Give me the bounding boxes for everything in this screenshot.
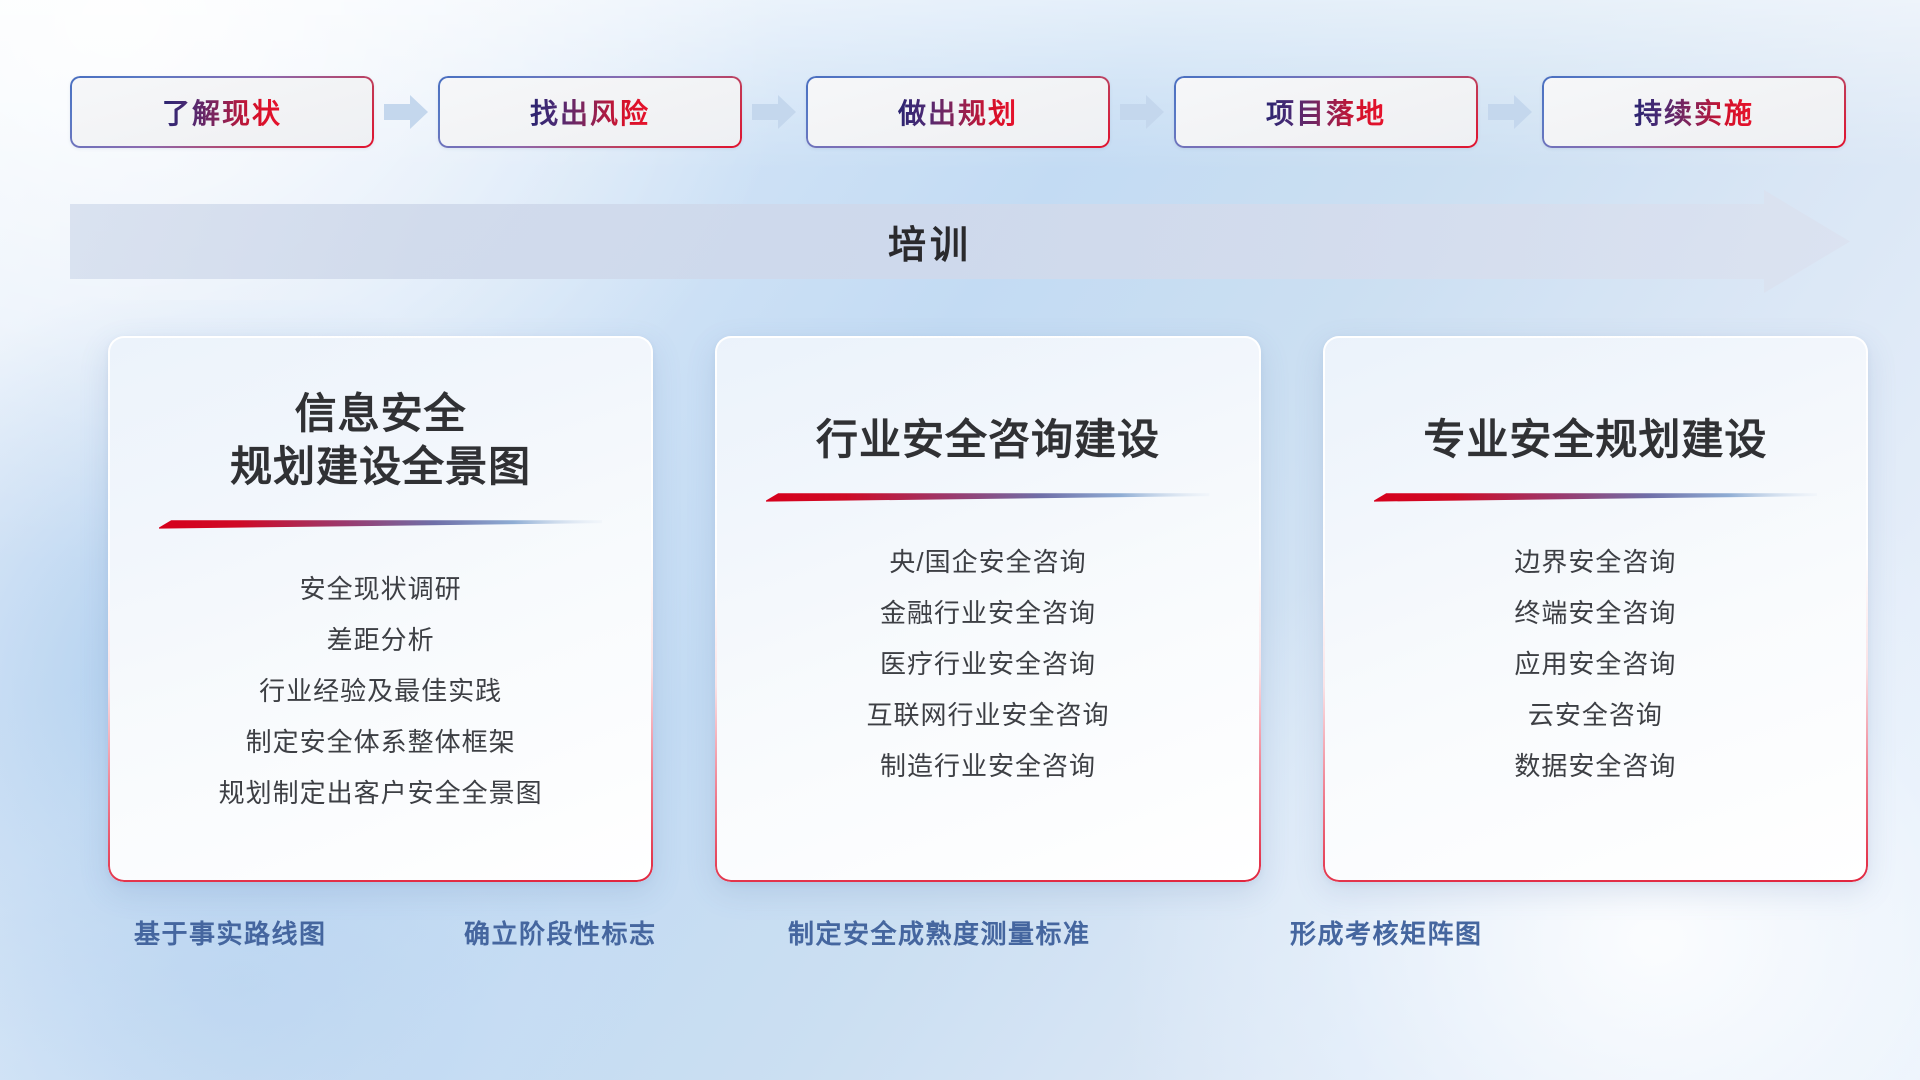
- chevron-right-arrow-icon: [1110, 76, 1174, 148]
- card-item-list: 央/国企安全咨询 金融行业安全咨询 医疗行业安全咨询 互联网行业安全咨询 制造行…: [745, 537, 1230, 792]
- chevron-right-arrow-icon: [374, 76, 438, 148]
- caption-milestones: 确立阶段性标志: [464, 905, 657, 959]
- list-item: 应用安全咨询: [1353, 639, 1838, 690]
- chevron-right-arrow-icon: [1478, 76, 1542, 148]
- step-pill-2[interactable]: 找出风险: [438, 76, 742, 148]
- step-pill-1[interactable]: 了解现状: [70, 76, 374, 148]
- chevron-right-arrow-icon: [742, 76, 806, 148]
- card-row: 信息安全 规划建设全景图 安全现状调研 差: [108, 336, 1868, 882]
- caption-roadmap: 基于事实路线图: [134, 905, 327, 959]
- card-item-list: 边界安全咨询 终端安全咨询 应用安全咨询 云安全咨询 数据安全咨询: [1353, 537, 1838, 792]
- card-title-line-1: 专业安全规划建设: [1423, 414, 1767, 467]
- card-title: 专业安全规划建设: [1423, 396, 1767, 467]
- process-step-row: 了解现状 找出风险 做出规划 项目落地 持续实施: [70, 76, 1850, 148]
- list-item: 差距分析: [138, 615, 623, 666]
- list-item: 数据安全咨询: [1353, 741, 1838, 792]
- card-divider-icon: [766, 491, 1209, 503]
- step-pill-3[interactable]: 做出规划: [806, 76, 1110, 148]
- card-title-line-1: 行业安全咨询建设: [816, 414, 1160, 467]
- list-item: 制造行业安全咨询: [745, 741, 1230, 792]
- list-item: 制定安全体系整体框架: [138, 717, 623, 768]
- card-title: 行业安全咨询建设: [816, 396, 1160, 467]
- list-item: 金融行业安全咨询: [745, 588, 1230, 639]
- step-label: 项目落地: [1266, 92, 1386, 132]
- list-item: 终端安全咨询: [1353, 588, 1838, 639]
- training-banner: 培训: [70, 190, 1850, 293]
- card-divider-icon: [159, 518, 602, 530]
- step-pill-4[interactable]: 项目落地: [1174, 76, 1478, 148]
- caption-assessment-matrix: 形成考核矩阵图: [1290, 905, 1483, 959]
- card-information-security-blueprint[interactable]: 信息安全 规划建设全景图 安全现状调研 差: [108, 336, 653, 882]
- step-label: 做出规划: [898, 92, 1018, 132]
- card-industry-security-consulting[interactable]: 行业安全咨询建设 央/国企安全咨询 金融行业安全咨询: [715, 336, 1260, 882]
- list-item: 行业经验及最佳实践: [138, 666, 623, 717]
- card-item-list: 安全现状调研 差距分析 行业经验及最佳实践 制定安全体系整体框架 规划制定出客户…: [138, 564, 623, 819]
- step-label: 找出风险: [530, 92, 650, 132]
- list-item: 互联网行业安全咨询: [745, 690, 1230, 741]
- list-item: 边界安全咨询: [1353, 537, 1838, 588]
- step-label: 了解现状: [162, 92, 282, 132]
- list-item: 央/国企安全咨询: [745, 537, 1230, 588]
- card-title-line-2: 规划建设全景图: [230, 441, 531, 494]
- card-divider-icon: [1374, 491, 1817, 503]
- caption-row: 基于事实路线图 确立阶段性标志 制定安全成熟度测量标准 形成考核矩阵图: [0, 905, 1920, 959]
- list-item: 云安全咨询: [1353, 690, 1838, 741]
- banner-title: 培训: [70, 190, 1850, 293]
- list-item: 安全现状调研: [138, 564, 623, 615]
- card-title-line-1: 信息安全: [230, 388, 531, 441]
- list-item: 医疗行业安全咨询: [745, 639, 1230, 690]
- step-pill-5[interactable]: 持续实施: [1542, 76, 1846, 148]
- card-title: 信息安全 规划建设全景图: [230, 388, 531, 494]
- step-label: 持续实施: [1634, 92, 1754, 132]
- caption-maturity-metric: 制定安全成熟度测量标准: [788, 905, 1091, 959]
- list-item: 规划制定出客户安全全景图: [138, 768, 623, 819]
- card-professional-security-planning[interactable]: 专业安全规划建设 边界安全咨询 终端安全咨询: [1323, 336, 1868, 882]
